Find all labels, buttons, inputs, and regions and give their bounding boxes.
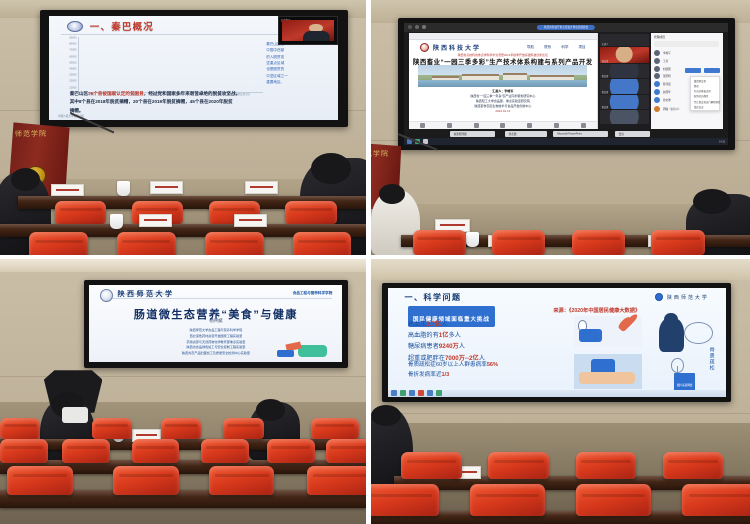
person-silhouette-icon bbox=[659, 318, 685, 353]
university-name: 陕西科技大学 bbox=[433, 43, 481, 52]
nav-item: 项目 bbox=[578, 45, 585, 50]
ppt-slide: 陕西科技大学 导航 院系 科学 项目 陕西省高校科协重点学科学术交流暨2021年… bbox=[413, 41, 593, 121]
taskbar-app-label: 浏览器 bbox=[509, 132, 517, 136]
y-tick: 30000 bbox=[69, 74, 76, 77]
led-screen-frame: 陕西师范大学 SHAANXI NORMAL UNIVERSITY 食品工程与营养… bbox=[84, 280, 348, 367]
participant-name: 张晓明 bbox=[663, 74, 671, 78]
nav-item: 导航 bbox=[527, 45, 534, 50]
toolbar-icon[interactable] bbox=[447, 123, 452, 128]
lectern-text: 师范学院 bbox=[371, 149, 389, 160]
menu-item[interactable]: 锁定会议 bbox=[691, 104, 719, 109]
clock[interactable]: 14:32 bbox=[719, 140, 725, 143]
participant-name: 李峰军 bbox=[663, 51, 671, 55]
participant-name: 周敏（主持人） bbox=[663, 107, 681, 111]
context-menu[interactable]: 邀请参会者 静音 开启全体麦克风 取消全员静音 禁止参会者自行解除静音 锁定会议 bbox=[690, 76, 720, 111]
attendee-head bbox=[256, 399, 285, 420]
slide-meta: 汇报人：李峰军 陕西省“一园三季一年多”农产业同步服务研究中心 陕西轻工大学食品… bbox=[413, 89, 593, 114]
avatar bbox=[654, 106, 660, 112]
toolbar-icon[interactable] bbox=[500, 123, 505, 128]
video-tile[interactable]: 参会者 bbox=[600, 95, 649, 109]
name-card bbox=[150, 181, 183, 194]
meta-line: 2022.01.13 bbox=[413, 109, 593, 114]
video-tile-strip: 主讲人 参会者 参会者 bbox=[598, 33, 651, 129]
taskbar-app-label: Microsoft PowerPoint bbox=[557, 132, 582, 135]
manage-members-button[interactable] bbox=[704, 68, 720, 73]
toolbar-icon[interactable] bbox=[581, 123, 586, 128]
y-tick: 40000 bbox=[69, 68, 76, 71]
participant-name: 孙文博 bbox=[663, 98, 671, 102]
participant-row[interactable]: 李峰军 bbox=[654, 50, 720, 56]
led-screen-frame: 一、秦巴概况 90000 80000 70000 60000 50000 400… bbox=[40, 10, 347, 127]
stat-row: 高血压2.7亿人 bbox=[408, 319, 570, 330]
name-card bbox=[245, 181, 278, 194]
photo-collage: 一、秦巴概况 90000 80000 70000 60000 50000 400… bbox=[0, 0, 750, 524]
auditorium-seat bbox=[55, 201, 106, 224]
y-tick: 60000 bbox=[69, 55, 76, 58]
auditorium-seat bbox=[29, 232, 88, 255]
participant-panel: 管理成员 李峰军 王涛 bbox=[651, 33, 723, 129]
slide-nav: 导航 院系 科学 项目 bbox=[527, 45, 586, 50]
auditorium-seat bbox=[267, 439, 315, 463]
attendee-head bbox=[693, 189, 731, 215]
auditorium-seat bbox=[326, 439, 366, 463]
auditorium-seat bbox=[113, 466, 179, 495]
auditorium-seat bbox=[663, 452, 724, 479]
auditorium-seat bbox=[307, 466, 366, 495]
panel-top-left: 一、秦巴概况 90000 80000 70000 60000 50000 400… bbox=[0, 0, 371, 259]
panel-bottom-left: 陕西师范大学 SHAANXI NORMAL UNIVERSITY 食品工程与营养… bbox=[0, 259, 371, 524]
university-seal-icon bbox=[655, 293, 663, 301]
auditorium-seat bbox=[651, 230, 704, 256]
highlight-text: 76个县被国家认定的贫困县 bbox=[88, 91, 144, 96]
shared-document-area: 演示文稿 陕西科技大学 导航 院系 科学 bbox=[409, 33, 597, 129]
avatar bbox=[654, 81, 660, 87]
auditorium-seat bbox=[285, 201, 336, 224]
auditorium-seat bbox=[572, 230, 625, 256]
heart-icon bbox=[619, 318, 634, 333]
taskbar-app-label: 资源管理器 bbox=[454, 132, 467, 136]
auditorium-seat bbox=[0, 439, 48, 463]
document-toolbar[interactable] bbox=[409, 33, 596, 40]
led-screen-frame: 陕西省科技厅重点研发计划项目视频会 演示文稿 bbox=[398, 18, 735, 151]
auditorium-seat bbox=[201, 439, 249, 463]
attendee-head bbox=[371, 405, 401, 426]
university-seal-icon bbox=[420, 43, 429, 52]
participant-panel-title: 管理成员 bbox=[654, 35, 665, 39]
university-brand: 陕西师范大学 bbox=[655, 293, 709, 301]
document-footer-toolbar[interactable] bbox=[409, 121, 596, 130]
participant-name: 陈伟强 bbox=[663, 82, 671, 86]
tile-name: 参会者 bbox=[602, 74, 609, 78]
university-name: 陕西师范大学 bbox=[667, 294, 709, 301]
led-screen-frame: 一、科学问题 陕西师范大学 国民健康领域面临重大挑战 来源：《2020年中国居民… bbox=[382, 283, 731, 402]
participant-name: 刘建国 bbox=[663, 67, 671, 71]
participant-row[interactable]: 王涛 bbox=[654, 58, 720, 64]
name-card bbox=[51, 184, 84, 197]
os-taskbar[interactable]: 14:32 bbox=[404, 138, 728, 145]
y-tick: 90000 bbox=[69, 37, 76, 40]
auditorium-seat bbox=[0, 418, 40, 439]
auditorium-seat bbox=[92, 418, 132, 439]
auditorium-seat bbox=[223, 418, 263, 439]
auditorium-seat bbox=[209, 466, 275, 495]
auditorium-seat bbox=[470, 484, 546, 516]
invite-button[interactable] bbox=[685, 68, 701, 73]
slide-body-text: 秦巴山区76个县被国家认定的贫困县，经过党和国家多年来艰苦卓绝的脱贫攻坚战， 其… bbox=[70, 90, 321, 115]
vertical-note: 骨质疏松 bbox=[709, 347, 716, 371]
taskbar-window-button[interactable]: Microsoft PowerPoint bbox=[553, 131, 608, 137]
avatar bbox=[654, 66, 660, 72]
toolbar-icon[interactable] bbox=[420, 123, 425, 128]
nav-item: 院系 bbox=[544, 45, 551, 50]
toolbar-icon[interactable] bbox=[527, 123, 532, 128]
decorative-shapes bbox=[277, 340, 328, 357]
presentation-screen: 陕西师范大学 SHAANXI NORMAL UNIVERSITY 食品工程与营养… bbox=[89, 285, 342, 363]
auditorium-seat bbox=[161, 418, 201, 439]
video-tile[interactable] bbox=[600, 110, 649, 124]
network-diagram-icon bbox=[684, 322, 712, 344]
lectern-text: 师范学院 bbox=[15, 129, 47, 140]
browser-icon[interactable] bbox=[400, 390, 406, 396]
blood-pressure-illustration bbox=[574, 316, 642, 346]
participant-name: 赵国华 bbox=[663, 90, 671, 94]
y-tick: 50000 bbox=[69, 61, 76, 64]
tile-name: 参会者 bbox=[602, 90, 609, 94]
avatar bbox=[654, 50, 660, 56]
toolbar-icon[interactable] bbox=[554, 123, 559, 128]
start-icon[interactable] bbox=[391, 390, 397, 396]
os-taskbar[interactable] bbox=[388, 390, 726, 398]
source-note: 来源：《2020年中国居民健康大数据》 bbox=[553, 307, 640, 314]
video-tile-active[interactable]: 参会者 bbox=[600, 47, 649, 62]
avatar bbox=[654, 58, 660, 64]
stat-row: 糖尿病患者9240万人 bbox=[408, 341, 570, 352]
stat-row: 骨折发病率近1/3 bbox=[408, 370, 597, 380]
auditorium-seat bbox=[132, 439, 180, 463]
section-title: 一、科学问题 bbox=[404, 292, 461, 303]
participant-search-input[interactable] bbox=[654, 41, 719, 48]
settings-icon[interactable] bbox=[436, 390, 442, 396]
university-seal-icon bbox=[67, 21, 83, 32]
auditorium-seat bbox=[205, 232, 264, 255]
slide-side-notes: 秦巴山区是 中国中西部 的人脱贫攻 坚重点区域 也是脱贫的 中坚区域之一 重要地… bbox=[266, 41, 330, 85]
stat-row: 骨质疏松症60岁以上人群患病率56% bbox=[408, 360, 597, 370]
video-tile[interactable]: 参会者 bbox=[600, 64, 649, 78]
taskbar-window-button[interactable]: 会议 bbox=[615, 131, 651, 137]
university-seal-icon bbox=[100, 289, 113, 302]
auditorium-seat bbox=[117, 232, 176, 255]
bone-stats-list: 骨质疏松症60岁以上人群患病率56% 骨折发病率近1/3 bbox=[408, 360, 597, 380]
video-tile[interactable]: 参会者 bbox=[600, 79, 649, 93]
avatar bbox=[654, 97, 660, 103]
taskbar-window-button[interactable]: 浏览器 bbox=[505, 131, 547, 137]
participant-action-buttons[interactable] bbox=[685, 68, 720, 73]
folder-icon[interactable] bbox=[409, 390, 415, 396]
toolbar-icon[interactable] bbox=[474, 123, 479, 128]
y-tick: 10000 bbox=[69, 86, 76, 89]
tile-name: 主讲人 bbox=[602, 42, 609, 46]
auditorium-seat bbox=[311, 418, 359, 439]
auditorium-seat bbox=[7, 466, 73, 495]
avatar bbox=[654, 89, 660, 95]
player-icon[interactable] bbox=[427, 390, 433, 396]
face-mask bbox=[62, 407, 88, 423]
media-icon[interactable] bbox=[418, 390, 424, 396]
water-cup bbox=[110, 214, 123, 229]
participant-name: 王涛 bbox=[663, 59, 668, 63]
bar-chart: 90000 80000 70000 60000 50000 40000 3000… bbox=[78, 37, 263, 93]
auditorium-seat bbox=[576, 484, 652, 516]
taskbar-window-button[interactable]: 资源管理器 bbox=[450, 131, 495, 137]
meeting-banner: 陕西省科技厅重点研发计划项目视频会 bbox=[537, 25, 595, 30]
presentation-screen: 陕西省科技厅重点研发计划项目视频会 演示文稿 bbox=[404, 23, 728, 145]
meeting-title-bar: 陕西省科技厅重点研发计划项目视频会 bbox=[404, 23, 728, 32]
department-name: 食品工程与营养科学学院 bbox=[293, 291, 333, 296]
glucose-test-illustration bbox=[574, 354, 642, 389]
y-tick: 80000 bbox=[69, 43, 76, 46]
slide-author: 杨兴斌 bbox=[89, 318, 342, 324]
auditorium-seat bbox=[492, 230, 545, 256]
attendee-head bbox=[311, 153, 351, 184]
panel-bottom-right: 一、科学问题 陕西师范大学 国民健康领域面临重大挑战 来源：《2020年中国居民… bbox=[371, 259, 750, 524]
panel-top-right: 陕西省科技厅重点研发计划项目视频会 演示文稿 bbox=[371, 0, 750, 259]
stat-row: 高血脂的有1亿多人 bbox=[408, 330, 570, 341]
image-credit-text: 图片来源网络 bbox=[677, 384, 693, 387]
name-card bbox=[234, 214, 267, 227]
y-tick: 70000 bbox=[69, 49, 76, 52]
auditorium-seat bbox=[488, 452, 549, 479]
university-name-en: SHAANXI NORMAL UNIVERSITY bbox=[118, 294, 168, 296]
water-cup bbox=[466, 232, 479, 247]
video-tile[interactable]: 主讲人 bbox=[600, 34, 649, 47]
nav-item: 科学 bbox=[561, 45, 568, 50]
auditorium-seat bbox=[371, 484, 439, 516]
auditorium-seat bbox=[682, 484, 750, 516]
auditorium-seat bbox=[401, 452, 462, 479]
slide-title: 一、秦巴概况 bbox=[90, 19, 154, 33]
speaker-video-thumbnail[interactable]: 主讲嘉宾 bbox=[278, 16, 339, 45]
auditorium-seat bbox=[62, 439, 110, 463]
auditorium-seat bbox=[576, 452, 637, 479]
menu-item[interactable]: 禁止参会者自行解除静音 bbox=[691, 99, 719, 104]
auditorium-seat bbox=[293, 232, 352, 255]
taskbar-app-label: 会议 bbox=[619, 132, 624, 136]
name-card bbox=[139, 214, 172, 227]
slide-subtitle: 陕西省高校科协重点学科学术交流暨2021年秋季开放基础科技创新论坛 bbox=[413, 53, 593, 57]
meeting-banner-text: 陕西省科技厅重点研发计划项目视频会 bbox=[537, 25, 595, 30]
tile-name: 参会者 bbox=[602, 59, 609, 63]
auditorium-seat bbox=[413, 230, 466, 256]
presentation-screen: 一、科学问题 陕西师范大学 国民健康领域面临重大挑战 来源：《2020年中国居民… bbox=[388, 288, 726, 398]
avatar bbox=[654, 73, 660, 79]
tile-name: 参会者 bbox=[602, 105, 609, 109]
y-tick: 20000 bbox=[69, 80, 76, 83]
campus-photo bbox=[418, 65, 587, 87]
health-stats-list: 高血压2.7亿人 高血脂的有1亿多人 糖尿病患者9240万人 超重或肥胖在700… bbox=[408, 319, 570, 363]
attendee-head bbox=[379, 184, 406, 204]
side-note: 重要地区。 bbox=[266, 79, 330, 85]
presentation-screen: 一、秦巴概况 90000 80000 70000 60000 50000 400… bbox=[49, 16, 338, 120]
water-cup bbox=[117, 181, 130, 196]
